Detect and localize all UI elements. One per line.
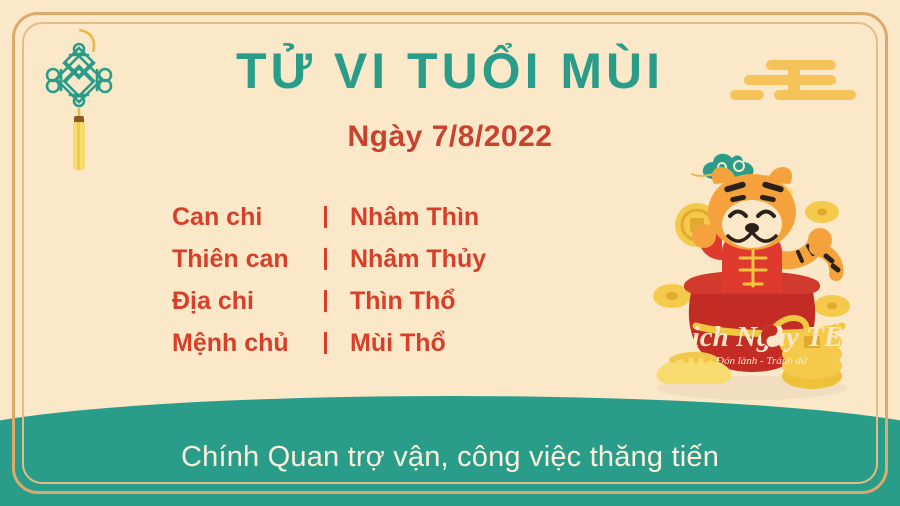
table-row: Mệnh chủ Mùi Thổ: [172, 322, 502, 364]
row-value: Nhâm Thìn: [338, 203, 479, 232]
table-row: Can chi Nhâm Thìn: [172, 196, 502, 238]
row-label: Thiên can: [172, 245, 312, 274]
watermark-tagline: Đón lành - Tránh dữ: [715, 355, 808, 367]
cloud-bars-icon: [728, 58, 858, 110]
row-label: Can chi: [172, 203, 312, 232]
row-label: Mệnh chủ: [172, 329, 312, 358]
table-row: Thiên can Nhâm Thủy: [172, 238, 502, 280]
row-value: Mùi Thổ: [338, 329, 446, 358]
coin-icon: [814, 295, 850, 317]
poster-canvas: Chính Quan trợ vận, công việc thăng tiến…: [0, 0, 900, 506]
banner-message: Chính Quan trợ vận, công việc thăng tiến: [0, 441, 900, 474]
row-divider: [312, 248, 338, 270]
tiger-money-bag-illustration: Lịch Ngày TẾT Đón lành - Tránh dữ: [626, 140, 876, 410]
table-row: Địa chi Thìn Thổ: [172, 280, 502, 322]
row-label: Địa chi: [172, 287, 312, 316]
row-divider: [312, 332, 338, 354]
horoscope-info-table: Can chi Nhâm Thìn Thiên can Nhâm Thủy Đị…: [172, 196, 502, 364]
row-divider: [312, 290, 338, 312]
row-divider: [312, 206, 338, 228]
coin-icon: [805, 201, 839, 223]
row-value: Nhâm Thủy: [338, 245, 486, 274]
row-value: Thìn Thổ: [338, 287, 456, 316]
chinese-knot-icon: [36, 22, 122, 172]
